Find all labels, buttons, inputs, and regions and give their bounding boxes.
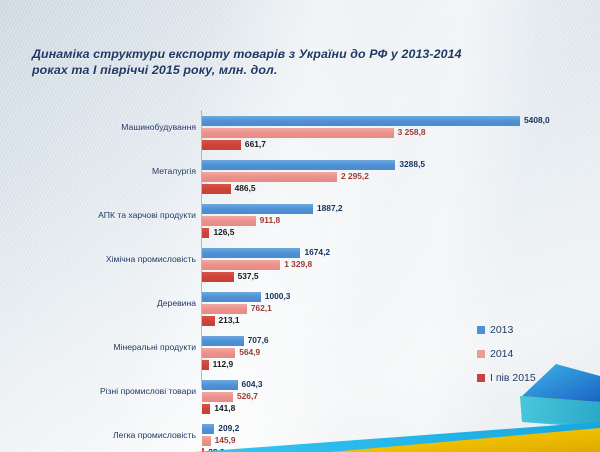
bar-2013 — [202, 204, 313, 214]
category-label: Металургія — [6, 166, 196, 176]
chart-legend: 20132014I пів 2015 — [477, 318, 597, 390]
category-label: Деревина — [6, 298, 196, 308]
legend-swatch-icon — [477, 326, 485, 334]
bar-group: Металургія3288,52 295,2486,5 — [0, 154, 600, 198]
bar-value-label: 1000,3 — [265, 291, 291, 301]
bar-2014 — [202, 436, 211, 446]
bar-value-label: 1887,2 — [317, 203, 343, 213]
legend-swatch-icon — [477, 374, 485, 382]
category-label: Мінеральні продукти — [6, 342, 196, 352]
bar-value-label: 126,5 — [213, 227, 234, 237]
bar-value-label: 486,5 — [235, 183, 256, 193]
bar-group: АПК та харчові продукти1887,2911,8126,5 — [0, 198, 600, 242]
bar-2014 — [202, 348, 235, 358]
category-label: Легка промисловість — [6, 430, 196, 440]
legend-label: I пів 2015 — [490, 372, 536, 384]
bar-value-label: 537,5 — [238, 271, 259, 281]
bar-group: Легка промисловість209,2145,938,2 — [0, 418, 600, 452]
category-label: Хімічна промисловість — [6, 254, 196, 264]
bar-value-label: 2 295,2 — [341, 171, 369, 181]
bar-value-label: 3 258,8 — [398, 127, 426, 137]
bar-value-label: 526,7 — [237, 391, 258, 401]
bar-value-label: 209,2 — [218, 423, 239, 433]
bar-value-label: 112,9 — [213, 359, 234, 369]
bar-i-пів-2015 — [202, 272, 234, 282]
legend-item[interactable]: 2013 — [477, 318, 597, 342]
bar-value-label: 5408,0 — [524, 115, 550, 125]
legend-item[interactable]: 2014 — [477, 342, 597, 366]
bar-group: Хімічна промисловість1674,21 329,8537,5 — [0, 242, 600, 286]
bar-value-label: 1 329,8 — [284, 259, 312, 269]
slide: Динаміка структури експорту товарів з Ук… — [0, 0, 600, 452]
bar-2014 — [202, 128, 394, 138]
legend-label: 2014 — [490, 348, 513, 360]
bar-2013 — [202, 424, 214, 434]
bar-2013 — [202, 116, 520, 126]
bar-value-label: 604,3 — [242, 379, 263, 389]
legend-label: 2013 — [490, 324, 513, 336]
bar-value-label: 1674,2 — [304, 247, 330, 257]
bar-value-label: 141,8 — [214, 403, 235, 413]
bar-group: Машинобудування5408,03 258,8661,7 — [0, 110, 600, 154]
bar-2013 — [202, 160, 395, 170]
bar-i-пів-2015 — [202, 184, 231, 194]
bar-value-label: 3288,5 — [399, 159, 425, 169]
bar-i-пів-2015 — [202, 448, 204, 452]
bar-value-label: 564,9 — [239, 347, 260, 357]
bar-i-пів-2015 — [202, 140, 241, 150]
bar-i-пів-2015 — [202, 360, 209, 370]
bar-i-пів-2015 — [202, 404, 210, 414]
category-label: АПК та харчові продукти — [6, 210, 196, 220]
bar-value-label: 707,6 — [248, 335, 269, 345]
category-label: Різні промислові товари — [6, 386, 196, 396]
slide-title: Динаміка структури експорту товарів з Ук… — [32, 46, 462, 79]
bar-2013 — [202, 380, 238, 390]
bar-value-label: 213,1 — [219, 315, 240, 325]
bar-2014 — [202, 304, 247, 314]
bar-2013 — [202, 292, 261, 302]
bar-i-пів-2015 — [202, 316, 215, 326]
bar-value-label: 911,8 — [260, 215, 281, 225]
bar-2013 — [202, 248, 300, 258]
bar-2013 — [202, 336, 244, 346]
bar-2014 — [202, 260, 280, 270]
legend-swatch-icon — [477, 350, 485, 358]
bar-i-пів-2015 — [202, 228, 209, 238]
legend-item[interactable]: I пів 2015 — [477, 366, 597, 390]
bar-2014 — [202, 172, 337, 182]
category-label: Машинобудування — [6, 122, 196, 132]
bar-value-label: 145,9 — [215, 435, 236, 445]
bar-2014 — [202, 392, 233, 402]
bar-value-label: 661,7 — [245, 139, 266, 149]
bar-2014 — [202, 216, 256, 226]
bar-value-label: 762,1 — [251, 303, 272, 313]
bar-value-label: 38,2 — [208, 447, 224, 452]
